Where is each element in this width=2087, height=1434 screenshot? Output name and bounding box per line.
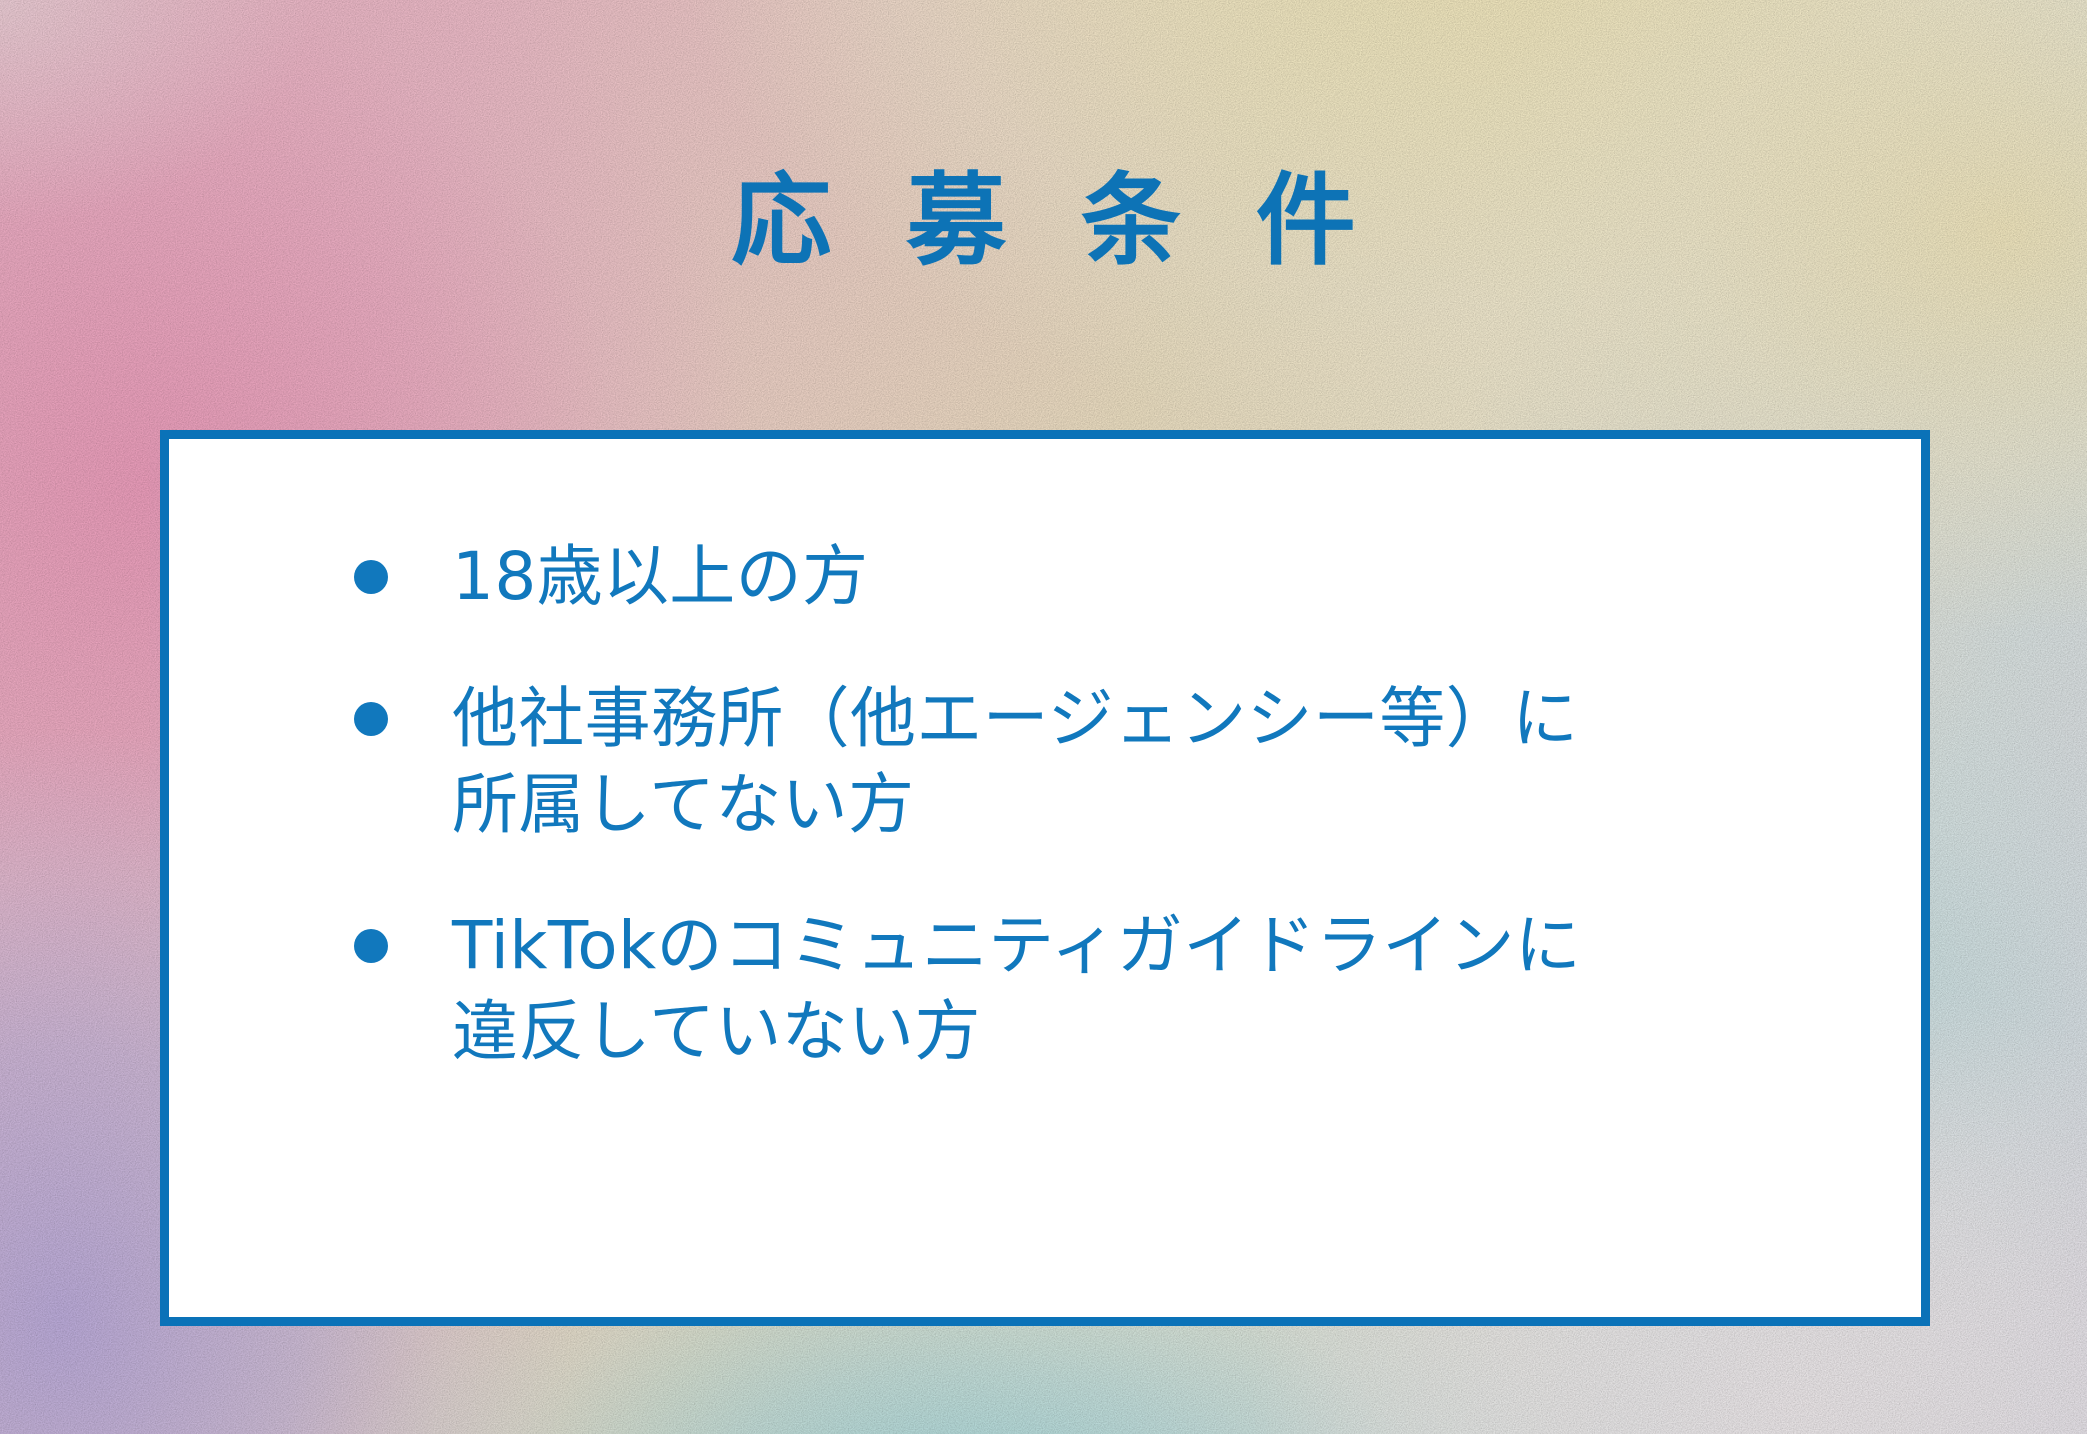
list-item: TikTokのコミュニティガイドラインに 違反していない方 (354, 903, 1861, 1075)
list-item-line: 18歳以上の方 (452, 534, 868, 620)
list-item: 18歳以上の方 (354, 534, 1861, 620)
conditions-list: 18歳以上の方 他社事務所（他エージェンシー等）に 所属してない方 TikTok… (354, 534, 1861, 1075)
list-item-text: TikTokのコミュニティガイドラインに 違反していない方 (452, 903, 1581, 1075)
list-item-line: 所属してない方 (452, 762, 1578, 848)
slide-canvas: 応 募 条 件 18歳以上の方 他社事務所（他エージェンシー等）に 所属してない… (0, 0, 2087, 1434)
page-title: 応 募 条 件 (0, 168, 2087, 273)
bullet-dot-icon (354, 929, 388, 963)
list-item-text: 18歳以上の方 (452, 534, 868, 620)
list-item-line: 他社事務所（他エージェンシー等）に (452, 676, 1578, 762)
bullet-dot-icon (354, 560, 388, 594)
list-item-text: 他社事務所（他エージェンシー等）に 所属してない方 (452, 676, 1578, 848)
list-item: 他社事務所（他エージェンシー等）に 所属してない方 (354, 676, 1861, 848)
list-item-line: TikTokのコミュニティガイドラインに (452, 903, 1581, 989)
bullet-dot-icon (354, 702, 388, 736)
list-item-line: 違反していない方 (452, 989, 1581, 1075)
conditions-card: 18歳以上の方 他社事務所（他エージェンシー等）に 所属してない方 TikTok… (160, 430, 1930, 1326)
